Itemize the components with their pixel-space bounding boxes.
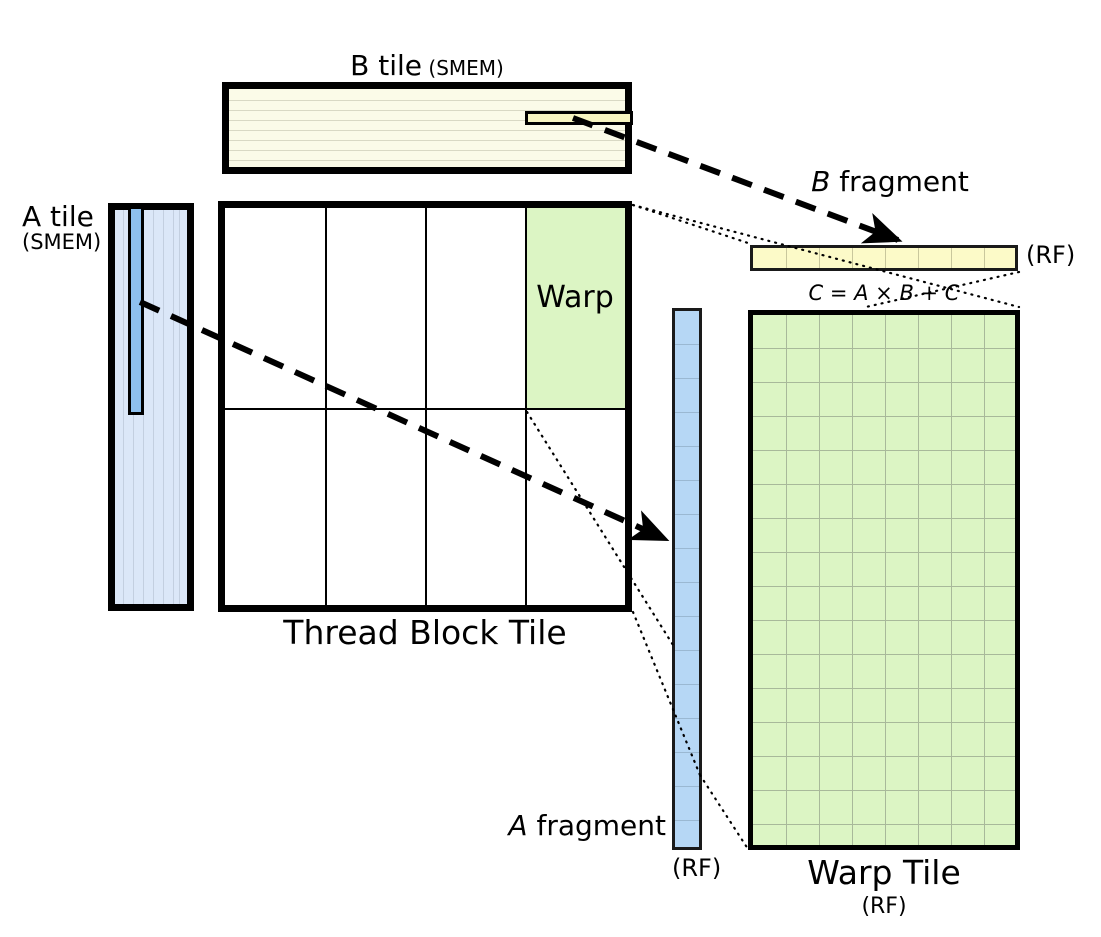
a-tile-colline — [153, 210, 154, 604]
a-fragment-cellline — [675, 616, 699, 617]
thread-block-vline — [425, 208, 427, 605]
thread-block-hline — [225, 408, 625, 410]
a-fragment-cellline — [675, 412, 699, 413]
b-fragment-cellline — [984, 248, 985, 268]
warp-tile-hline — [753, 416, 1015, 417]
a-fragment-cellline — [675, 786, 699, 787]
warp-tile-vline — [951, 315, 952, 845]
thread-block-warp-label: Warp — [525, 280, 625, 315]
b-tile-rowline — [229, 100, 625, 101]
warp-tile-hline — [753, 654, 1015, 655]
a-tile-colline — [123, 210, 124, 604]
a-tile-colline — [163, 210, 164, 604]
warp-tile-hline — [753, 348, 1015, 349]
warp-tile-vline — [984, 315, 985, 845]
a-fragment-cellline — [675, 446, 699, 447]
a-fragment-cellline — [675, 582, 699, 583]
warp-tile-hline — [753, 722, 1015, 723]
a-fragment-caption-symbol: A — [508, 809, 527, 842]
b-tile-rowline — [229, 150, 625, 151]
b-fragment-caption-symbol: B — [811, 165, 830, 198]
warp-tile-vline — [918, 315, 919, 845]
thread-block-tile-box: Warp — [218, 201, 632, 612]
a-fragment-cellline — [675, 344, 699, 345]
a-tile-caption-text: A tile — [22, 200, 94, 233]
b-fragment-cellline — [786, 248, 787, 268]
b-fragment-cellline — [885, 248, 886, 268]
thread-block-vline — [525, 208, 527, 605]
warp-tile-hline — [753, 484, 1015, 485]
a-fragment-box — [672, 308, 702, 850]
b-fragment-caption: B fragment — [790, 168, 990, 197]
a-tile-colline — [173, 210, 174, 604]
a-fragment-cellline — [675, 514, 699, 515]
b-tile-box — [222, 82, 632, 174]
a-fragment-caption: A fragment — [508, 812, 666, 841]
a-tile-colline — [179, 210, 180, 604]
diagram-canvas: B tile (SMEM) A tile (SMEM) — [0, 0, 1101, 937]
warp-tile-hline — [753, 620, 1015, 621]
a-fragment-cellline — [675, 820, 699, 821]
b-fragment-memory-label: (RF) — [1026, 243, 1075, 267]
thread-block-vline — [325, 208, 327, 605]
b-tile-caption: B tile (SMEM) — [222, 52, 632, 81]
b-tile-highlight-row — [525, 111, 633, 125]
warp-tile-equation: C = A × B + C — [748, 283, 1020, 304]
a-tile-highlight-column — [128, 209, 144, 415]
a-fragment-cellline — [675, 752, 699, 753]
a-fragment-cellline — [675, 378, 699, 379]
warp-tile-hline — [753, 790, 1015, 791]
a-tile-box — [108, 203, 194, 611]
warp-tile-vline — [819, 315, 820, 845]
b-tile-rowline — [229, 140, 625, 141]
b-tile-caption-text: B tile — [350, 49, 422, 82]
a-fragment-cellline — [675, 548, 699, 549]
warp-tile-caption: Warp Tile — [748, 856, 1020, 890]
a-fragment-cellline — [675, 684, 699, 685]
a-tile-caption: A tile (SMEM) — [22, 203, 104, 253]
a-fragment-memory-label: (RF) — [672, 856, 702, 880]
thread-block-tile-caption: Thread Block Tile — [218, 616, 632, 650]
a-fragment-cellline — [675, 650, 699, 651]
warp-tile-memory-label: (RF) — [748, 896, 1020, 918]
warp-tile-hline — [753, 450, 1015, 451]
b-fragment-box — [750, 245, 1018, 271]
b-tile-rowline — [229, 160, 625, 161]
warp-tile-hline — [753, 382, 1015, 383]
a-tile-gridlines — [115, 210, 187, 604]
warp-tile-hline — [753, 688, 1015, 689]
a-fragment-cellline — [675, 480, 699, 481]
a-fragment-to-warp-tile-leader — [700, 775, 748, 849]
b-fragment-cellline — [852, 248, 853, 268]
warp-tile-hline — [753, 586, 1015, 587]
warp-tile-hline — [753, 824, 1015, 825]
b-fragment-cellline — [819, 248, 820, 268]
warp-tile-vline — [885, 315, 886, 845]
warp-tile-vline — [852, 315, 853, 845]
warp-tile-hline — [753, 518, 1015, 519]
a-tile-memory-text: (SMEM) — [22, 232, 104, 253]
warp-tile-hline — [753, 552, 1015, 553]
b-fragment-cellline — [918, 248, 919, 268]
warp-cell-to-b-fragment-leader — [633, 205, 748, 243]
warp-tile-vline — [786, 315, 787, 845]
a-fragment-cellline — [675, 718, 699, 719]
b-fragment-cellline — [951, 248, 952, 268]
b-tile-memory-text: (SMEM) — [422, 56, 504, 80]
b-fragment-caption-text: fragment — [830, 165, 968, 198]
warp-tile-box — [748, 310, 1020, 850]
a-fragment-caption-text: fragment — [528, 809, 666, 842]
b-tile-rowline — [229, 130, 625, 131]
warp-tile-hline — [753, 756, 1015, 757]
